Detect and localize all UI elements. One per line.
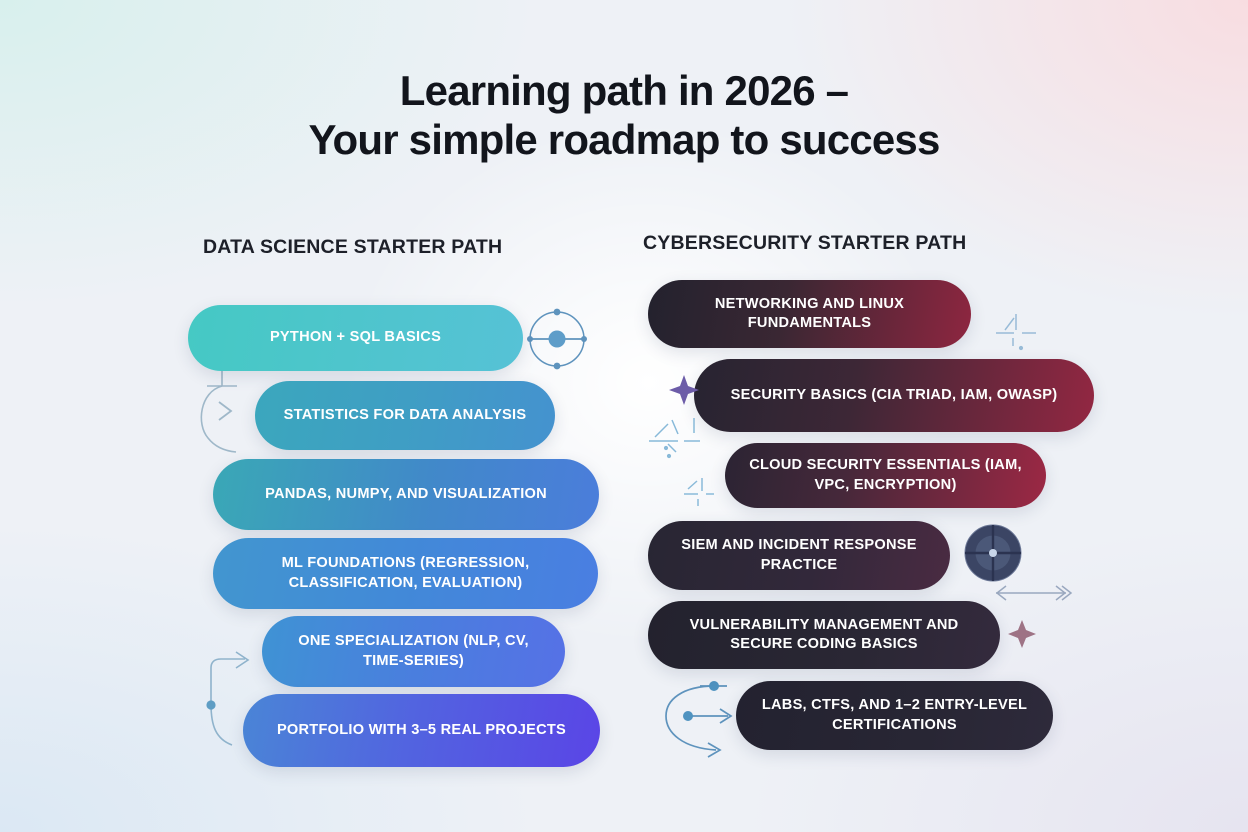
step-label: CLOUD SECURITY ESSENTIALS (IAM, VPC, ENC… — [747, 456, 1024, 495]
step-pill-ds-6[interactable]: PORTFOLIO WITH 3–5 REAL PROJECTS — [243, 694, 600, 767]
step-label: VULNERABILITY MANAGEMENT AND SECURE CODI… — [670, 616, 978, 655]
page-title: Learning path in 2026 – Your simple road… — [0, 66, 1248, 164]
step-pill-ds-1[interactable]: PYTHON + SQL BASICS — [188, 305, 523, 371]
step-label: ONE SPECIALIZATION (NLP, CV, TIME-SERIES… — [284, 632, 543, 671]
column-heading-cybersecurity: CYBERSECURITY STARTER PATH — [643, 232, 966, 255]
step-pill-cs-6[interactable]: LABS, CTFS, AND 1–2 ENTRY-LEVEL CERTIFIC… — [736, 681, 1053, 750]
step-label: NETWORKING AND LINUX FUNDAMENTALS — [670, 295, 949, 334]
step-pill-cs-3[interactable]: CLOUD SECURITY ESSENTIALS (IAM, VPC, ENC… — [725, 443, 1046, 508]
step-label: PYTHON + SQL BASICS — [270, 328, 441, 347]
step-pill-ds-2[interactable]: STATISTICS FOR DATA ANALYSIS — [255, 381, 555, 450]
step-label: SIEM AND INCIDENT RESPONSE PRACTICE — [670, 536, 928, 575]
step-label: ML FOUNDATIONS (REGRESSION, CLASSIFICATI… — [235, 554, 576, 593]
step-pill-ds-4[interactable]: ML FOUNDATIONS (REGRESSION, CLASSIFICATI… — [213, 538, 598, 609]
step-label: SECURITY BASICS (CIA TRIAD, IAM, OWASP) — [731, 386, 1058, 405]
step-label: LABS, CTFS, AND 1–2 ENTRY-LEVEL CERTIFIC… — [758, 696, 1031, 735]
step-pill-cs-5[interactable]: VULNERABILITY MANAGEMENT AND SECURE CODI… — [648, 601, 1000, 669]
step-pill-cs-2[interactable]: SECURITY BASICS (CIA TRIAD, IAM, OWASP) — [694, 359, 1094, 432]
title-line-1: Learning path in 2026 – — [0, 66, 1248, 115]
step-pill-cs-1[interactable]: NETWORKING AND LINUX FUNDAMENTALS — [648, 280, 971, 348]
step-pill-cs-4[interactable]: SIEM AND INCIDENT RESPONSE PRACTICE — [648, 521, 950, 590]
title-line-2: Your simple roadmap to success — [0, 115, 1248, 164]
column-heading-data-science: DATA SCIENCE STARTER PATH — [203, 236, 502, 259]
step-pill-ds-3[interactable]: PANDAS, NUMPY, AND VISUALIZATION — [213, 459, 599, 530]
step-pill-ds-5[interactable]: ONE SPECIALIZATION (NLP, CV, TIME-SERIES… — [262, 616, 565, 687]
step-label: PORTFOLIO WITH 3–5 REAL PROJECTS — [277, 721, 566, 740]
step-label: STATISTICS FOR DATA ANALYSIS — [284, 406, 527, 425]
step-label: PANDAS, NUMPY, AND VISUALIZATION — [265, 485, 547, 504]
